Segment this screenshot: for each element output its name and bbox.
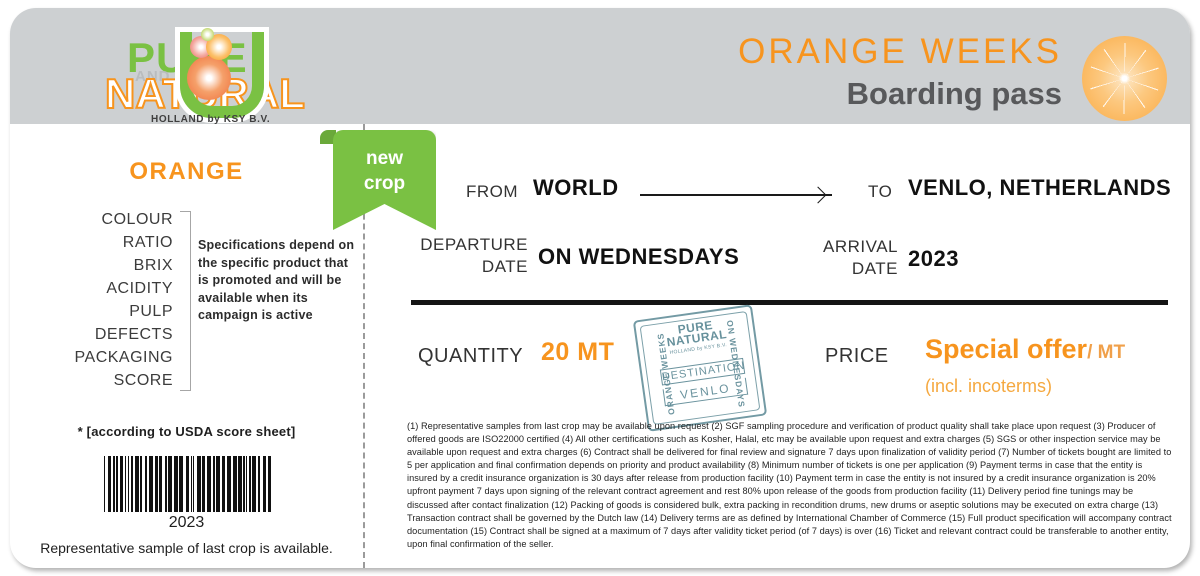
- header-band: PURE AND NATURAL HOLLAND by KSY B.V. ORA…: [10, 8, 1190, 124]
- barcode-bar: [193, 456, 194, 512]
- left-stub: ORANGE COLOURRATIOBRIXACIDITYPULPDEFECTS…: [10, 124, 363, 568]
- header-titles: ORANGE WEEKS Boarding pass: [738, 34, 1062, 112]
- barcode-bar: [207, 456, 211, 512]
- orange-slice-icon: [1082, 36, 1167, 121]
- barcode-bar: [268, 456, 271, 512]
- product-name: ORANGE: [10, 158, 363, 186]
- barcode-bar: [216, 456, 220, 512]
- from-label: FROM: [466, 182, 518, 202]
- spec-label: COLOUR: [48, 208, 173, 231]
- spec-label: PACKAGING: [48, 346, 173, 369]
- barcode-bar: [186, 456, 189, 512]
- barcode-bar: [149, 456, 153, 512]
- barcode-bar: [238, 456, 242, 512]
- spec-label: PULP: [48, 300, 173, 323]
- barcode-bar: [263, 456, 266, 512]
- barcode-bar: [128, 456, 129, 512]
- departure-value: ON WEDNESDAYS: [538, 244, 739, 270]
- barcode-bar: [168, 456, 172, 512]
- barcode: [104, 456, 274, 512]
- section-rule: [411, 300, 1168, 305]
- lime-slice-icon: [201, 28, 214, 41]
- barcode-bar: [125, 456, 126, 512]
- orange-slice-large-icon: [187, 56, 231, 100]
- spec-label: RATIO: [48, 231, 173, 254]
- barcode-bar: [104, 456, 105, 512]
- barcode-bar: [135, 456, 139, 512]
- spec-label: SCORE: [48, 369, 173, 392]
- boarding-pass-card: PURE AND NATURAL HOLLAND by KSY B.V. ORA…: [10, 8, 1190, 568]
- departure-label: DEPARTURE DATE: [411, 234, 528, 278]
- barcode-bar: [145, 456, 147, 512]
- barcode-bar: [155, 456, 158, 512]
- barcode-bar: [222, 456, 225, 512]
- destination-stamp: PURE NATURAL HOLLAND by KSY B.V. ORANGE …: [633, 304, 767, 432]
- to-label: TO: [868, 182, 892, 202]
- campaign-title: ORANGE WEEKS: [738, 34, 1062, 71]
- barcode-bar: [174, 456, 178, 512]
- barcode-bar: [243, 456, 245, 512]
- barcode-bar: [233, 456, 237, 512]
- page-title: Boarding pass: [738, 75, 1062, 112]
- terms-and-conditions: (1) Representative samples from last cro…: [407, 420, 1175, 551]
- price-value-text: Special offer: [925, 334, 1087, 364]
- spec-bracket: [180, 211, 191, 391]
- barcode-bar: [202, 456, 205, 512]
- barcode-bar: [131, 456, 133, 512]
- spec-note: Specifications depend on the specific pr…: [198, 237, 358, 325]
- barcode-bar: [258, 456, 260, 512]
- barcode-bar: [140, 456, 142, 512]
- barcode-bar: [165, 456, 167, 512]
- barcode-bar: [227, 456, 231, 512]
- barcode-bar: [252, 456, 256, 512]
- right-main: FROM WORLD TO VENLO, NETHERLANDS DEPARTU…: [363, 124, 1190, 568]
- quantity-label: QUANTITY: [418, 345, 523, 368]
- barcode-bar: [116, 456, 118, 512]
- barcode-bar: [179, 456, 183, 512]
- spec-label: BRIX: [48, 254, 173, 277]
- price-subnote: (incl. incoterms): [925, 376, 1052, 397]
- brand-logo: PURE AND NATURAL HOLLAND by KSY B.V.: [115, 30, 330, 122]
- barcode-bar: [159, 456, 162, 512]
- usda-note: * [according to USDA score sheet]: [10, 424, 363, 439]
- barcode-bar: [246, 456, 247, 512]
- barcode-bar: [120, 456, 123, 512]
- logo-u-glass-icon: [172, 32, 250, 120]
- spec-label: DEFECTS: [48, 323, 173, 346]
- arrival-label: ARRIVAL DATE: [783, 236, 898, 280]
- route-arrow-icon: [640, 189, 845, 199]
- spec-label: ACIDITY: [48, 277, 173, 300]
- barcode-bar: [191, 456, 192, 512]
- barcode-bar: [197, 456, 201, 512]
- barcode-bar: [213, 456, 215, 512]
- price-unit: / MT: [1087, 342, 1125, 363]
- quantity-value: 20 MT: [541, 338, 614, 367]
- barcode-number: 2023: [10, 514, 363, 532]
- price-value: Special offer/ MT: [925, 334, 1125, 365]
- spec-label-list: COLOURRATIOBRIXACIDITYPULPDEFECTSPACKAGI…: [48, 208, 173, 392]
- price-label: PRICE: [825, 345, 889, 368]
- to-value: VENLO, NETHERLANDS: [908, 175, 1171, 201]
- left-footer-note: Representative sample of last crop is av…: [10, 540, 363, 556]
- barcode-bar: [113, 456, 115, 512]
- arrival-value: 2023: [908, 246, 959, 272]
- from-value: WORLD: [533, 175, 619, 201]
- barcode-bar: [108, 456, 111, 512]
- barcode-bar: [249, 456, 251, 512]
